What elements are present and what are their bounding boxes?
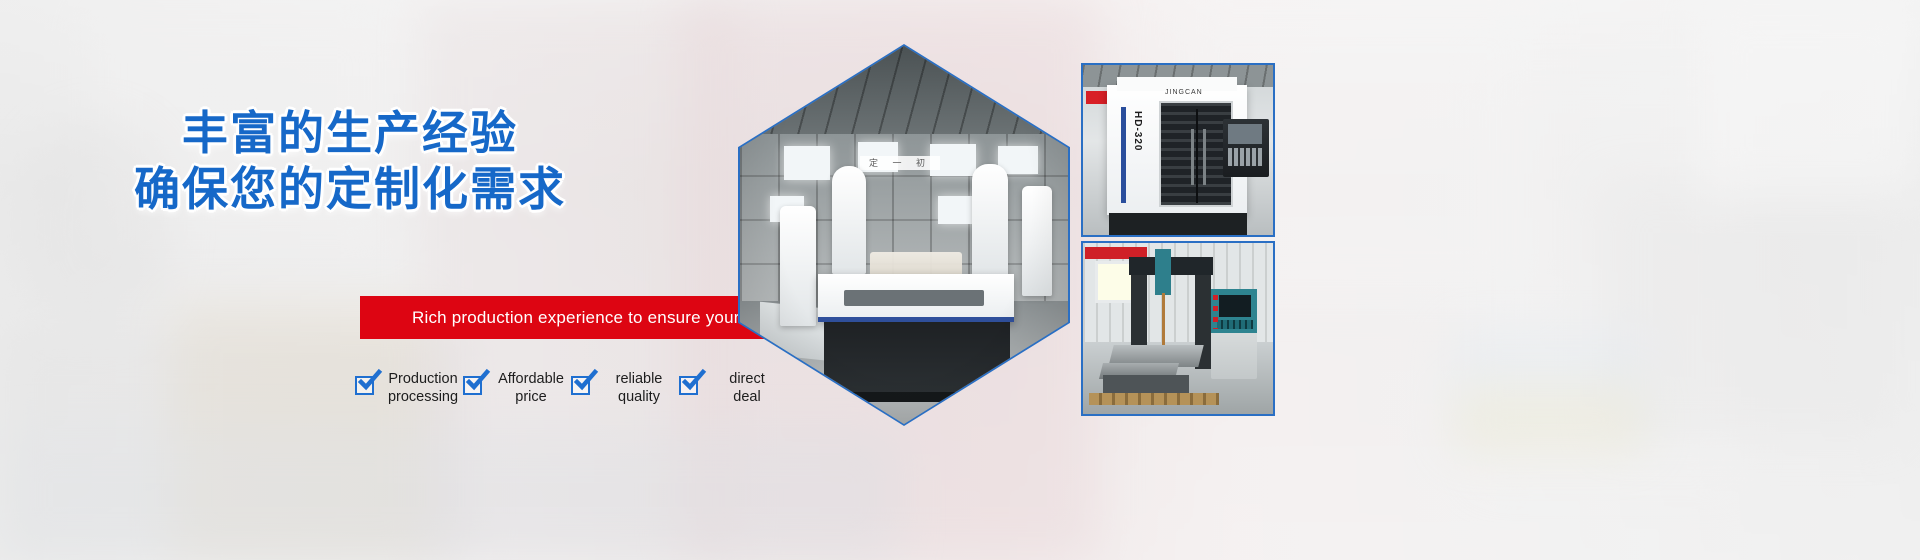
hd320-scene: HD-320 JINGCAN [1083,65,1273,235]
hd320-model-label: HD-320 [1129,111,1143,191]
gantry-boring-bar [1162,293,1165,351]
checkbox-checked-icon[interactable] [571,376,590,395]
image-vignette [740,46,1068,424]
hd320-machine-plinth [1109,213,1247,237]
gantry-spindle-head [1155,249,1171,295]
gantry-cnc-screen [1219,295,1251,317]
gantry-crossbeam [1129,257,1213,275]
feature-item-reliable-quality[interactable]: reliable quality [571,370,679,406]
gantry-scene [1083,243,1273,414]
hd320-control-panel [1223,119,1269,177]
checkbox-checked-icon[interactable] [679,376,698,395]
checkbox-checked-icon[interactable] [355,376,374,395]
hexagon-image-clip: 定 一 初 [740,46,1068,424]
headline-line-1: 丰富的生产经验 [0,105,700,161]
gantry-control-buttons [1213,295,1218,329]
hd320-control-keypad [1228,148,1262,166]
hexagon-machine-photo[interactable]: 定 一 初 [738,44,1070,426]
gantry-cnc-keypad [1217,320,1253,329]
feature-label: Production processing [384,370,462,406]
feature-label: reliable quality [600,370,678,406]
feature-item-affordable-price[interactable]: Affordable price [463,370,571,406]
hd320-enclosure-door [1159,101,1233,207]
hd320-door-handle [1191,129,1194,185]
feature-list: Production processing Affordable price r… [355,370,787,406]
hd320-door-handle [1203,129,1206,185]
thumbnail-hd320-machine[interactable]: HD-320 JINGCAN [1081,63,1275,237]
checkbox-checked-icon[interactable] [463,376,482,395]
hd320-control-screen [1228,124,1262,144]
feature-label: Affordable price [492,370,570,406]
gantry-control-cabinet [1211,289,1257,379]
headline: 丰富的生产经验 确保您的定制化需求 [0,105,700,217]
headline-line-2: 确保您的定制化需求 [0,161,700,217]
feature-item-production-processing[interactable]: Production processing [355,370,463,406]
gantry-wood-pallet [1089,393,1219,405]
thumbnail-gantry-boring-machine[interactable] [1081,241,1275,416]
hd320-brand-mark: JINGCAN [1165,89,1203,96]
gantry-machine-stand [1103,375,1189,395]
hd320-accent-stripe [1121,107,1126,203]
workshop-scene: 定 一 初 [740,46,1068,424]
